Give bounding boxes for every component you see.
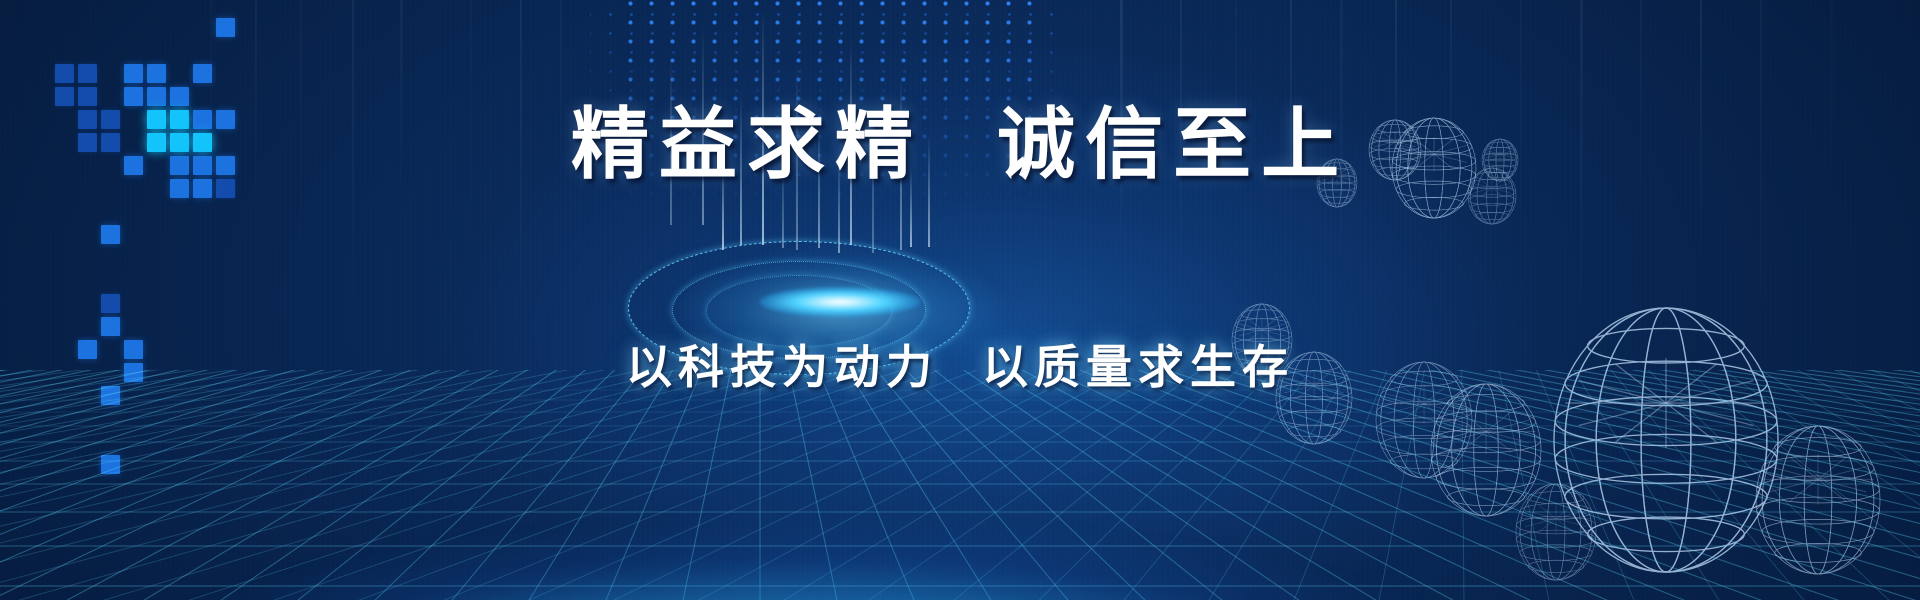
mosaic-square — [147, 64, 166, 83]
mosaic-square — [147, 87, 166, 106]
page-title: 精益求精 诚信至上 — [0, 106, 1920, 184]
mosaic-square — [55, 64, 74, 83]
mosaic-square — [78, 64, 97, 83]
mosaic-square — [101, 317, 120, 336]
page-subtitle: 以科技为动力 以质量求生存 — [0, 344, 1920, 390]
mosaic-square — [101, 225, 120, 244]
mosaic-square — [55, 87, 74, 106]
mosaic-square — [124, 64, 143, 83]
mosaic-square — [216, 18, 235, 37]
mosaic-square — [124, 87, 143, 106]
mosaic-square — [101, 294, 120, 313]
banner-canvas: 精益求精 诚信至上 以科技为动力 以质量求生存 — [0, 0, 1920, 600]
mosaic-square — [170, 87, 189, 106]
mosaic-square — [193, 64, 212, 83]
mosaic-square — [78, 87, 97, 106]
floor-glow — [0, 390, 1920, 600]
ring-core-light — [760, 287, 920, 317]
perspective-grid-floor-bottom — [0, 370, 1920, 600]
